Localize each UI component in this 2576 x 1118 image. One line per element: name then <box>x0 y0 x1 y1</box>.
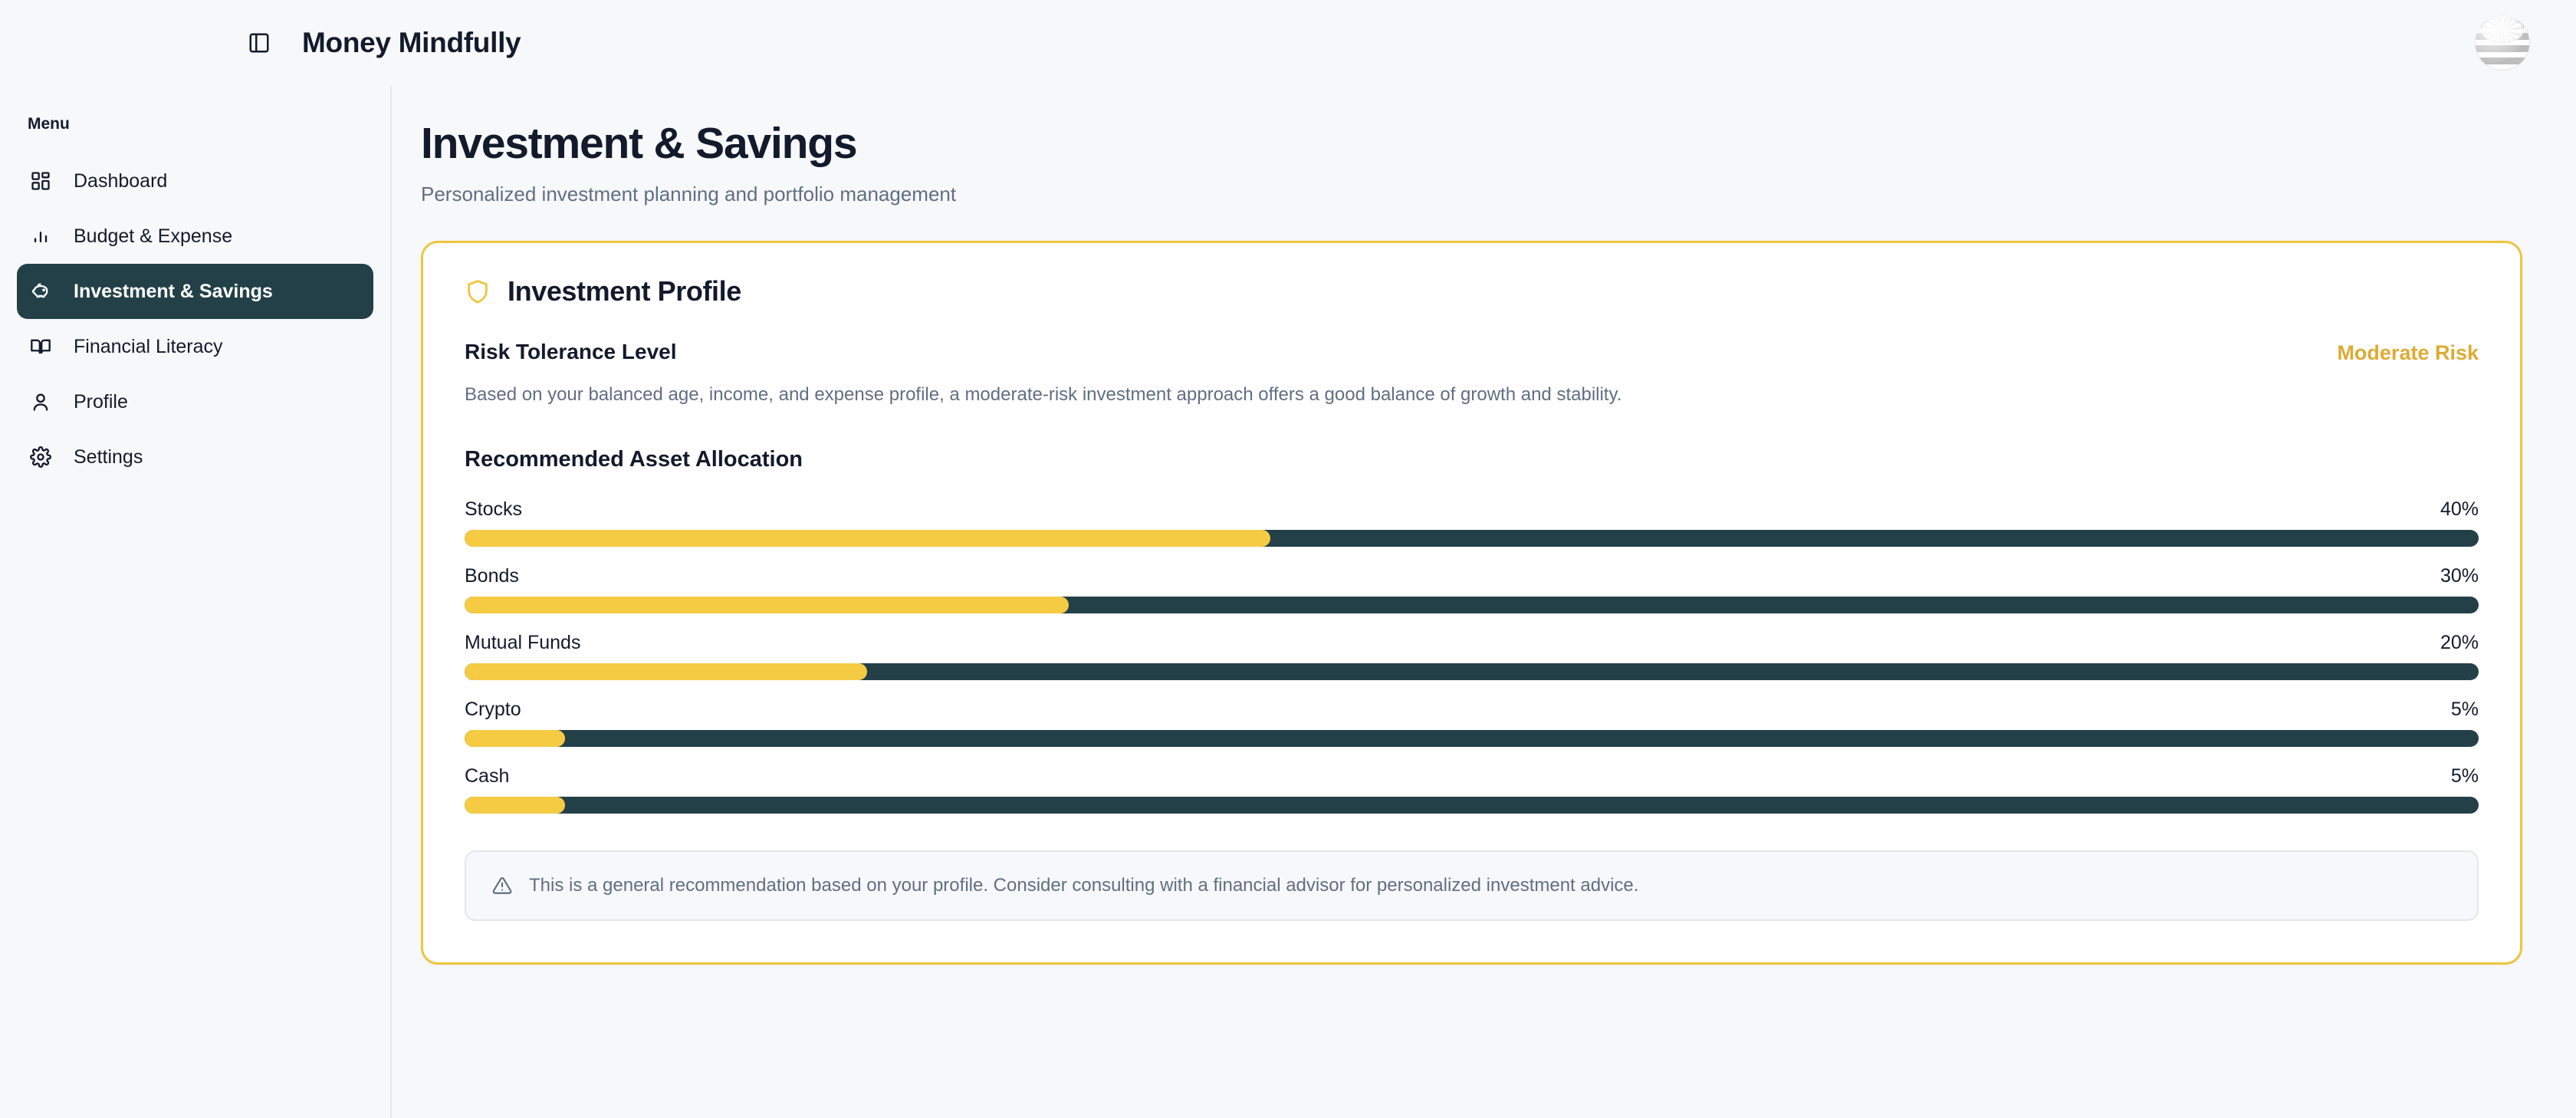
risk-tolerance-label: Risk Tolerance Level <box>465 340 677 364</box>
sidebar-item-budget-expense[interactable]: Budget & Expense <box>17 209 373 264</box>
allocation-progress-track <box>465 797 2479 814</box>
user-icon <box>28 389 54 415</box>
allocation-progress-track <box>465 530 2479 547</box>
sidebar-item-label: Settings <box>74 446 143 469</box>
allocation-row: Stocks 40% <box>465 498 2479 547</box>
sidebar-item-dashboard[interactable]: Dashboard <box>17 153 373 209</box>
sidebar-item-label: Dashboard <box>74 170 167 192</box>
allocation-progress-track <box>465 730 2479 747</box>
sidebar-item-settings[interactable]: Settings <box>17 429 373 485</box>
main-content: Investment & Savings Personalized invest… <box>392 86 2576 1118</box>
panel-left-icon <box>248 31 271 54</box>
sidebar-item-investment-savings[interactable]: Investment & Savings <box>17 264 373 319</box>
sidebar-item-label: Profile <box>74 391 128 413</box>
investment-profile-card: Investment Profile Risk Tolerance Level … <box>421 241 2522 965</box>
warning-triangle-icon <box>492 876 514 896</box>
allocation-row: Cash 5% <box>465 765 2479 814</box>
allocation-asset-percent: 5% <box>2451 699 2479 721</box>
sidebar-item-label: Financial Literacy <box>74 336 223 358</box>
allocation-row-head: Stocks 40% <box>465 498 2479 521</box>
bar-chart-icon <box>28 223 54 249</box>
sidebar-item-financial-literacy[interactable]: Financial Literacy <box>17 319 373 374</box>
piggy-bank-icon <box>28 278 54 304</box>
brand-title: Money Mindfully <box>302 27 521 59</box>
risk-tolerance-row: Risk Tolerance Level Moderate Risk <box>465 340 2479 365</box>
card-header: Investment Profile <box>465 275 2479 307</box>
risk-level-badge: Moderate Risk <box>2337 340 2479 365</box>
allocation-row: Mutual Funds 20% <box>465 632 2479 680</box>
allocation-list: Stocks 40% Bonds 30% <box>465 498 2479 814</box>
sidebar-item-label: Investment & Savings <box>74 281 273 303</box>
allocation-row-head: Mutual Funds 20% <box>465 632 2479 654</box>
allocation-progress-fill <box>465 530 1270 547</box>
allocation-asset-percent: 40% <box>2440 498 2479 521</box>
allocation-progress-fill <box>465 597 1069 613</box>
allocation-asset-percent: 5% <box>2451 765 2479 788</box>
allocation-progress-fill <box>465 663 867 680</box>
allocation-asset-name: Bonds <box>465 565 519 587</box>
allocation-asset-name: Mutual Funds <box>465 632 580 654</box>
sidebar-toggle-button[interactable] <box>238 21 281 64</box>
allocation-row: Crypto 5% <box>465 699 2479 747</box>
allocation-asset-percent: 20% <box>2440 632 2479 654</box>
page-subtitle: Personalized investment planning and por… <box>421 182 2522 206</box>
allocation-row-head: Crypto 5% <box>465 699 2479 721</box>
app-root: Money Mindfully Menu Dashboard <box>0 0 2576 1118</box>
risk-description: Based on your balanced age, income, and … <box>465 382 2479 408</box>
card-title: Investment Profile <box>508 275 741 307</box>
allocation-progress-fill <box>465 730 565 747</box>
page-title: Investment & Savings <box>421 120 2522 169</box>
allocation-row-head: Cash 5% <box>465 765 2479 788</box>
allocation-row: Bonds 30% <box>465 565 2479 613</box>
sidebar-heading: Menu <box>17 109 373 133</box>
disclaimer-text: This is a general recommendation based o… <box>529 875 1638 896</box>
sidebar: Menu Dashboard <box>0 86 392 1118</box>
allocation-asset-percent: 30% <box>2440 565 2479 587</box>
body-row: Menu Dashboard <box>0 86 2576 1118</box>
avatar[interactable] <box>2475 15 2530 71</box>
allocation-progress-fill <box>465 797 565 814</box>
sidebar-item-profile[interactable]: Profile <box>17 374 373 429</box>
allocation-progress-track <box>465 597 2479 613</box>
book-open-icon <box>28 334 54 360</box>
shield-icon <box>465 278 491 304</box>
layout-dashboard-icon <box>28 168 54 194</box>
disclaimer-note: This is a general recommendation based o… <box>465 850 2479 921</box>
top-bar: Money Mindfully <box>0 0 2576 86</box>
allocation-title: Recommended Asset Allocation <box>465 447 2479 472</box>
allocation-progress-track <box>465 663 2479 680</box>
allocation-row-head: Bonds 30% <box>465 565 2479 587</box>
allocation-asset-name: Crypto <box>465 699 521 721</box>
allocation-asset-name: Stocks <box>465 498 522 521</box>
allocation-asset-name: Cash <box>465 765 509 788</box>
gear-icon <box>28 444 54 470</box>
sidebar-item-label: Budget & Expense <box>74 225 232 248</box>
